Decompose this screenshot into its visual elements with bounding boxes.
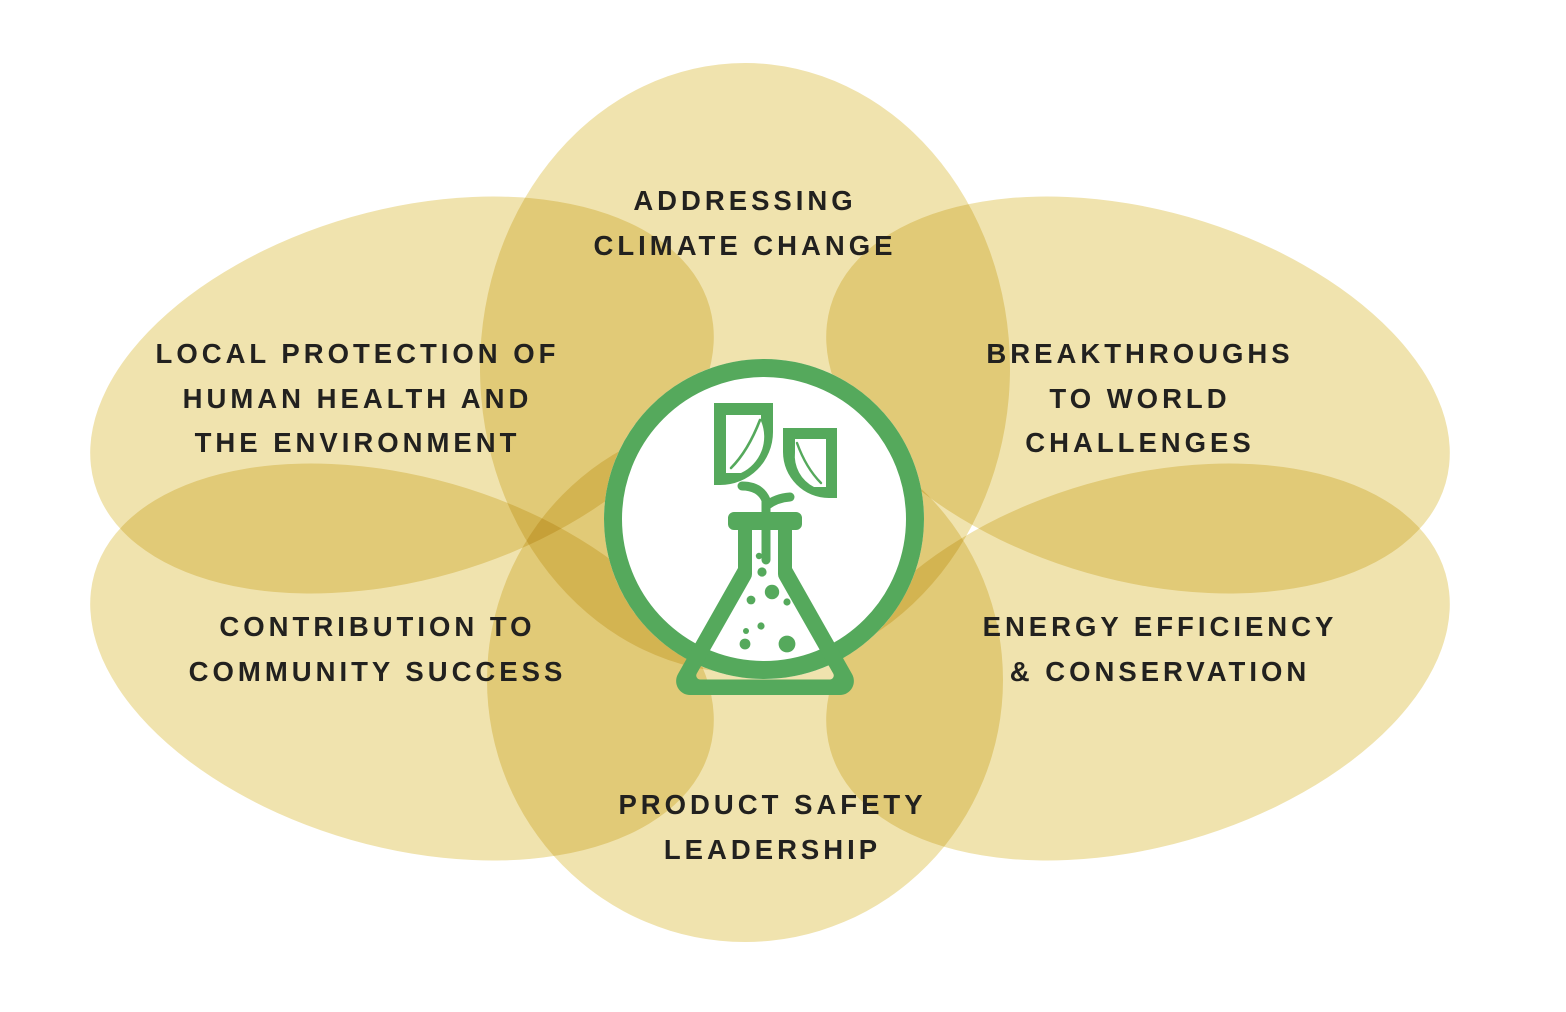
diagram-canvas: .petal { fill: #f0e3ae; mix-blend-mode: … xyxy=(0,0,1566,1012)
flask-bubble-icon xyxy=(743,628,749,634)
flower-petals-graphic: .petal { fill: #f0e3ae; mix-blend-mode: … xyxy=(0,0,1566,1012)
flask-bubble-icon xyxy=(740,639,751,650)
flask-bubble-icon xyxy=(783,598,790,605)
flask-bubble-icon xyxy=(779,636,796,653)
flask-bubble-icon xyxy=(757,622,764,629)
flask-bubble-icon xyxy=(757,567,766,576)
flask-bubble-icon xyxy=(747,596,756,605)
flask-bubble-icon xyxy=(756,553,762,559)
flask-bubble-icon xyxy=(765,585,779,599)
